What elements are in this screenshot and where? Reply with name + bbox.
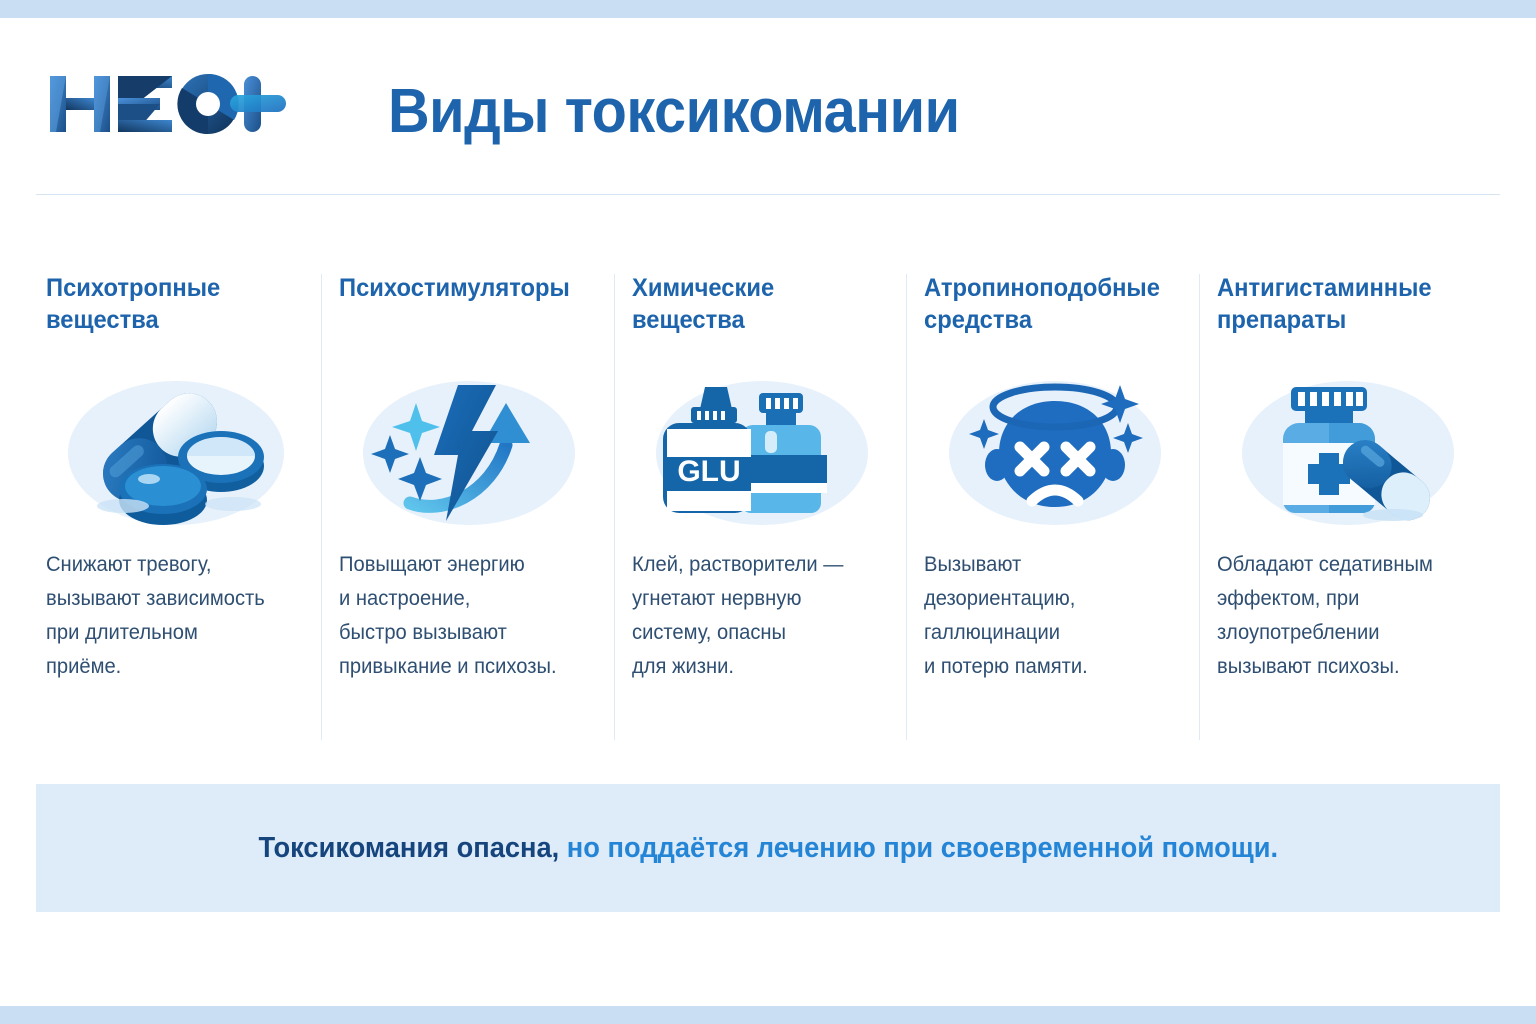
category-title: Химические вещества	[632, 272, 880, 348]
glue-label: GLU	[677, 455, 740, 488]
category-icon-wrap	[339, 364, 600, 542]
category-title: Атропиноподобные средства	[924, 272, 1172, 348]
category-title: Психостимуляторы	[339, 272, 587, 348]
category-column-psychotropic: Психотропные вещества	[36, 272, 329, 742]
category-description: Обладают седативным эффектом, при злоупо…	[1217, 548, 1467, 684]
lightning-bolt-arrow-sparkles-icon	[354, 373, 584, 533]
footer-message: Токсикомания опасна, но поддаётся лечени…	[258, 832, 1278, 865]
category-column-antihistamine: Антигистаминные препараты	[1207, 272, 1500, 742]
category-icon-wrap: GLU	[632, 364, 893, 542]
header: Виды токсикомании	[0, 18, 1536, 188]
glue-bottle-solvent-icon: GLU	[647, 373, 877, 533]
footer-message-strong: Токсикомания опасна,	[258, 832, 559, 864]
infographic-page: Виды токсикомании Психотропные вещества	[0, 0, 1536, 1024]
dizzy-face-icon	[940, 373, 1170, 533]
category-icon-wrap	[924, 364, 1185, 542]
neo-plus-logo-icon	[48, 70, 288, 138]
category-title: Психотропные вещества	[46, 272, 294, 348]
category-description: Повыщают энергию и настроение, быстро вы…	[339, 548, 589, 684]
category-column-atropine: Атропиноподобные средства	[914, 272, 1207, 742]
header-divider	[36, 194, 1500, 195]
category-title: Антигистаминные препараты	[1217, 272, 1465, 348]
footer-message-light: но поддаётся лечению при своевременной п…	[559, 832, 1278, 864]
brand-logo-neo-plus[interactable]	[48, 70, 288, 138]
category-column-stimulants: Психостимуляторы	[329, 272, 622, 742]
category-icon-wrap	[46, 364, 307, 542]
page-title: Виды токсикомании	[388, 76, 960, 147]
categories-row: Психотропные вещества	[36, 272, 1500, 742]
medicine-bottle-capsule-icon	[1233, 373, 1463, 533]
category-icon-wrap	[1217, 364, 1478, 542]
top-accent-band	[0, 0, 1536, 18]
bottom-accent-band	[0, 1006, 1536, 1024]
category-description: Снижают тревогу, вызывают зависимость пр…	[46, 548, 296, 684]
category-description: Клей, растворители — угнетают нервную си…	[632, 548, 882, 684]
pills-capsule-tablets-icon	[61, 373, 291, 533]
category-description: Вызывают дезориентацию, галлюцинации и п…	[924, 548, 1174, 684]
footer-banner: Токсикомания опасна, но поддаётся лечени…	[36, 784, 1500, 912]
category-column-chemicals: Химические вещества	[622, 272, 915, 742]
